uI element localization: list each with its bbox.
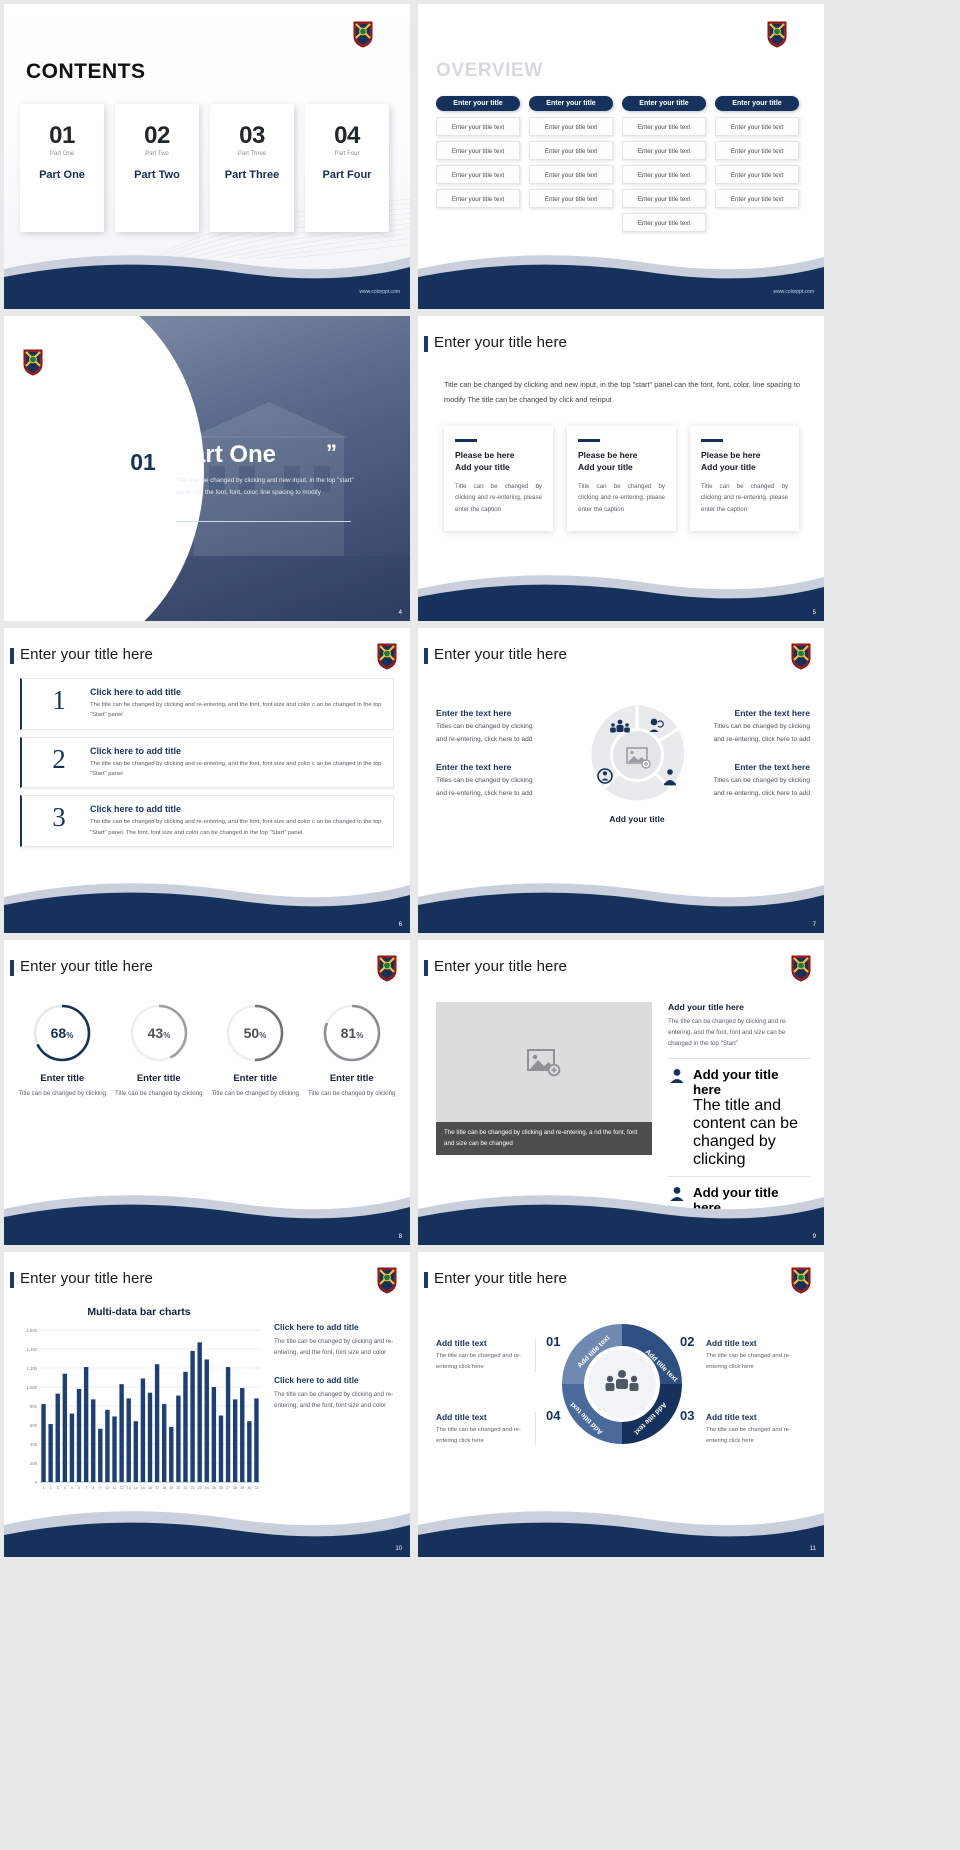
- page-title: CONTENTS: [26, 60, 146, 84]
- svg-text:12: 12: [120, 1486, 124, 1490]
- bar: [148, 1393, 152, 1482]
- svg-text:600: 600: [30, 1423, 38, 1428]
- slide-contents[interactable]: CONTENTS 01 Part One Part One 02 Part Tw…: [4, 4, 410, 309]
- ring-value: 68: [51, 1025, 67, 1041]
- svg-text:24: 24: [205, 1486, 209, 1490]
- ring-unit: %: [163, 1031, 170, 1040]
- overview-box[interactable]: Enter your title text: [622, 213, 706, 232]
- row-number: 2: [32, 746, 86, 773]
- card-label: Part Two: [115, 169, 199, 181]
- quadrant-number: 01: [546, 1334, 560, 1349]
- image-placeholder[interactable]: [436, 1002, 652, 1122]
- card-label: Part One: [20, 169, 104, 181]
- page-title: Enter your title here: [20, 646, 153, 663]
- block-body: Titles can be changed by clicking and re…: [436, 775, 540, 801]
- svg-text:20: 20: [176, 1486, 180, 1490]
- svg-text:11: 11: [113, 1486, 117, 1490]
- block-heading: Enter the text here: [706, 762, 810, 772]
- svg-text:81%: 81%: [340, 1025, 363, 1041]
- svg-text:1,400: 1,400: [27, 1347, 38, 1352]
- row-body: The title can be changed by clicking and…: [90, 817, 383, 838]
- quadrant-body: The title can be changed and re-entering…: [706, 1425, 806, 1446]
- slide-wheel-diagram[interactable]: Enter your title here Enter the text her…: [418, 628, 824, 933]
- quadrant-body: The title can be changed and re-entering…: [706, 1351, 806, 1372]
- quadrant-text: Add title text The title can be changed …: [436, 1338, 536, 1372]
- right-text-column: Click here to add title The title can be…: [274, 1322, 400, 1428]
- left-text-column: Enter the text here Titles can be change…: [436, 708, 540, 815]
- university-crest-icon: [376, 1266, 398, 1294]
- item-heading: Add your title here: [693, 1067, 810, 1097]
- slide-cycle-diagram[interactable]: Enter your title here: [418, 1252, 824, 1557]
- row-number: 3: [32, 804, 86, 831]
- percent-ring[interactable]: 50% Enter title Title can be changed by …: [207, 1002, 304, 1100]
- overview-box[interactable]: Enter your title text: [436, 165, 520, 184]
- svg-text:10: 10: [105, 1486, 109, 1490]
- overview-column: Enter your title Enter your title text E…: [622, 96, 706, 237]
- svg-text:27: 27: [226, 1486, 230, 1490]
- wave-footer: [4, 247, 410, 309]
- bar: [112, 1416, 116, 1482]
- page-number: 11: [810, 1546, 816, 1552]
- text-block: Enter the text here Titles can be change…: [436, 762, 540, 801]
- svg-text:43%: 43%: [147, 1025, 170, 1041]
- block-body: The title can be changed by clicking and…: [668, 1016, 810, 1049]
- ring-value: 81: [340, 1025, 356, 1041]
- donut-chart: 50%: [224, 1002, 286, 1064]
- card-subtitle: Part Two: [115, 151, 199, 157]
- svg-text:6: 6: [78, 1486, 80, 1490]
- svg-text:1,200: 1,200: [27, 1366, 38, 1371]
- card-number: 03: [210, 122, 294, 150]
- card-subtitle: Part Four: [305, 151, 389, 157]
- svg-text:8: 8: [92, 1486, 94, 1490]
- card-subtitle: Part One: [20, 151, 104, 157]
- ring-caption: Title can be changed by clicking: [14, 1089, 111, 1100]
- row-heading: Click here to add title: [90, 687, 383, 697]
- university-crest-icon: [790, 954, 812, 982]
- svg-text:7: 7: [85, 1486, 87, 1490]
- wave-footer: [418, 871, 824, 933]
- contents-card[interactable]: 02 Part Two Part Two: [115, 104, 199, 232]
- card-label: Part Three: [210, 169, 294, 181]
- block-body: Titles can be changed by clicking and re…: [436, 721, 540, 747]
- page-number: 6: [399, 922, 402, 928]
- block-body: Titles can be changed by clicking and re…: [706, 775, 810, 801]
- block-heading: Add your title here: [668, 1002, 810, 1012]
- quadrant-number: 04: [546, 1408, 560, 1423]
- overview-column: Enter your title Enter your title text E…: [436, 96, 520, 237]
- row-body: The title can be changed by clicking and…: [90, 759, 383, 780]
- svg-text:30: 30: [247, 1486, 251, 1490]
- info-card[interactable]: Please be here Add your title Title can …: [567, 426, 676, 531]
- svg-text:21: 21: [183, 1486, 187, 1490]
- percent-ring[interactable]: 68% Enter title Title can be changed by …: [14, 1002, 111, 1100]
- card-heading: Please be here Add your title: [578, 449, 665, 474]
- svg-text:23: 23: [198, 1486, 202, 1490]
- bar: [197, 1342, 201, 1482]
- quadrant-heading: Add title text: [436, 1412, 527, 1422]
- svg-text:19: 19: [169, 1486, 173, 1490]
- row-number: 1: [32, 687, 86, 714]
- svg-text:9: 9: [99, 1486, 101, 1490]
- svg-text:13: 13: [127, 1486, 131, 1490]
- quadrant-text: Add title text The title can be changed …: [436, 1412, 536, 1446]
- bar: [254, 1398, 258, 1482]
- bar-chart[interactable]: Multi-data bar charts 02004006008001,000…: [14, 1306, 264, 1521]
- ring-unit: %: [259, 1031, 266, 1040]
- footer-website: www.colorppt.com: [359, 289, 400, 295]
- svg-text:29: 29: [240, 1486, 244, 1490]
- page-title: Enter your title here: [434, 958, 567, 975]
- card-heading: Please be here Add your title: [701, 449, 788, 474]
- page-title: OVERVIEW: [436, 60, 543, 82]
- bar: [41, 1404, 45, 1482]
- page-title: Enter your title here: [434, 646, 567, 663]
- bar: [70, 1414, 74, 1482]
- bar: [212, 1387, 216, 1482]
- university-crest-icon: [22, 348, 44, 376]
- footer-website: www.colorppt.com: [773, 289, 814, 295]
- block-heading: Enter the text here: [706, 708, 810, 718]
- bar-chart-svg: 02004006008001,0001,2001,4001,6001234567…: [14, 1324, 264, 1504]
- overview-box[interactable]: Enter your title text: [715, 165, 799, 184]
- svg-text:5: 5: [71, 1486, 73, 1490]
- bar: [240, 1388, 244, 1482]
- column-header-pill[interactable]: Enter your title: [622, 96, 706, 111]
- segmented-wheel-diagram[interactable]: [582, 700, 692, 810]
- text-block: Click here to add title The title can be…: [274, 1322, 400, 1359]
- bar: [98, 1429, 102, 1482]
- svg-text:26: 26: [219, 1486, 223, 1490]
- svg-text:15: 15: [141, 1486, 145, 1490]
- slide-deck-grid: CONTENTS 01 Part One Part One 02 Part Tw…: [0, 0, 960, 1557]
- bar: [190, 1351, 194, 1482]
- svg-text:17: 17: [155, 1486, 159, 1490]
- wave-footer: [4, 1183, 410, 1245]
- card-heading: Please be here Add your title: [455, 449, 542, 474]
- column-header-pill[interactable]: Enter your title: [715, 96, 799, 111]
- university-crest-icon: [790, 642, 812, 670]
- numbered-row[interactable]: 3 Click here to add title The title can …: [20, 795, 394, 847]
- bar: [155, 1364, 159, 1482]
- overview-box[interactable]: Enter your title text: [622, 165, 706, 184]
- page-number: 7: [813, 922, 816, 928]
- page-number: 8: [399, 1234, 402, 1240]
- quadrant-heading: Add title text: [706, 1412, 806, 1422]
- section-heading: Part One: [176, 441, 276, 469]
- donut-chart: 43%: [128, 1002, 190, 1064]
- bar: [205, 1359, 209, 1482]
- numbered-row[interactable]: 2 Click here to add title The title can …: [20, 737, 394, 789]
- bar: [48, 1424, 52, 1482]
- overview-column: Enter your title Enter your title text E…: [529, 96, 613, 237]
- item-body: The title and content can be changed by …: [693, 1097, 810, 1169]
- block-body: The title can be changed by clicking and…: [274, 1336, 400, 1359]
- donut-chart: 68%: [31, 1002, 93, 1064]
- ring-label: Enter title: [207, 1073, 304, 1084]
- quadrant-number: 02: [680, 1334, 694, 1349]
- text-block: Enter the text here Titles can be change…: [706, 708, 810, 747]
- block-heading: Enter the text here: [436, 708, 540, 718]
- wave-footer: [4, 1495, 410, 1557]
- svg-text:28: 28: [233, 1486, 237, 1490]
- card-list: Please be here Add your title Title can …: [444, 426, 799, 531]
- svg-text:1: 1: [43, 1486, 45, 1490]
- svg-text:200: 200: [30, 1461, 38, 1466]
- page-title: Enter your title here: [434, 1270, 567, 1287]
- svg-text:4: 4: [64, 1486, 66, 1490]
- bar: [176, 1396, 180, 1482]
- svg-text:1,000: 1,000: [27, 1385, 38, 1390]
- ring-label: Enter title: [304, 1073, 401, 1084]
- row-body: The title can be changed by clicking and…: [90, 700, 383, 721]
- slide-section-divider[interactable]: 01 Part One ” Title can be changed by cl…: [4, 316, 410, 621]
- block-body: The title can be changed by clicking and…: [274, 1389, 400, 1412]
- page-title: Enter your title here: [434, 334, 567, 351]
- card-number: 02: [115, 122, 199, 150]
- image-placeholder-icon: [526, 1047, 562, 1077]
- slide-percent-rings[interactable]: Enter your title here 68% Enter title Ti…: [4, 940, 410, 1245]
- overview-box[interactable]: Enter your title text: [622, 189, 706, 208]
- university-crest-icon: [376, 642, 398, 670]
- quadrant-text: Add title text The title can be changed …: [706, 1338, 806, 1372]
- page-number: 9: [813, 1234, 816, 1240]
- wave-footer: [4, 871, 410, 933]
- card-body: Title can be changed by clicking and re-…: [578, 481, 665, 515]
- page-number: 4: [399, 610, 402, 616]
- wave-footer: [418, 1183, 824, 1245]
- quadrant-heading: Add title text: [706, 1338, 806, 1348]
- numbered-row-list: 1 Click here to add title The title can …: [20, 678, 394, 854]
- section-body: Title can be changed by clicking and new…: [176, 475, 356, 498]
- column-header-pill[interactable]: Enter your title: [436, 96, 520, 111]
- bar: [169, 1427, 173, 1482]
- ring-caption: Title can be changed by clicking: [207, 1089, 304, 1100]
- right-text-column: Enter the text here Titles can be change…: [706, 708, 810, 815]
- svg-text:14: 14: [134, 1486, 138, 1490]
- overview-box[interactable]: Enter your title text: [436, 189, 520, 208]
- person-icon: [668, 1067, 686, 1169]
- overview-box[interactable]: Enter your title text: [529, 141, 613, 160]
- bar: [91, 1399, 95, 1482]
- svg-text:2: 2: [50, 1486, 52, 1490]
- svg-text:0: 0: [35, 1480, 38, 1485]
- bar: [105, 1410, 109, 1482]
- bar: [247, 1421, 251, 1482]
- bar: [162, 1404, 166, 1482]
- ring-caption: Title can be changed by clicking: [304, 1089, 401, 1100]
- page-number: 5: [813, 610, 816, 616]
- university-crest-icon: [352, 20, 374, 48]
- card-body: Title can be changed by clicking and re-…: [701, 481, 788, 515]
- accent-dash: [701, 439, 723, 442]
- text-block: Click here to add title The title can be…: [274, 1375, 400, 1412]
- bar: [119, 1384, 123, 1482]
- slide-three-cards[interactable]: Enter your title here Title can be chang…: [418, 316, 824, 621]
- accent-dash: [578, 439, 600, 442]
- block-heading: Click here to add title: [274, 1375, 400, 1385]
- ring-unit: %: [66, 1031, 73, 1040]
- overview-column: Enter your title Enter your title text E…: [715, 96, 799, 237]
- university-crest-icon: [790, 1266, 812, 1294]
- svg-text:1,600: 1,600: [27, 1328, 38, 1333]
- overview-box[interactable]: Enter your title text: [436, 141, 520, 160]
- chart-title: Multi-data bar charts: [14, 1306, 264, 1318]
- ring-value: 43: [147, 1025, 163, 1041]
- card-body: Title can be changed by clicking and re-…: [455, 481, 542, 515]
- overview-box[interactable]: Enter your title text: [715, 189, 799, 208]
- bar: [56, 1394, 60, 1482]
- ring-caption: Title can be changed by clicking: [111, 1089, 208, 1100]
- contents-card[interactable]: 01 Part One Part One: [20, 104, 104, 232]
- block-heading: Enter the text here: [436, 762, 540, 772]
- donut-chart: 81%: [321, 1002, 383, 1064]
- card-number: 01: [20, 122, 104, 150]
- percent-ring[interactable]: 81% Enter title Title can be changed by …: [304, 1002, 401, 1100]
- overview-columns: Enter your title Enter your title text E…: [436, 96, 799, 237]
- block-heading: Click here to add title: [274, 1322, 400, 1332]
- overview-box[interactable]: Enter your title text: [715, 117, 799, 136]
- row-heading: Click here to add title: [90, 804, 383, 814]
- wave-footer: [418, 559, 824, 621]
- svg-text:25: 25: [212, 1486, 216, 1490]
- page-title: Enter your title here: [20, 958, 153, 975]
- bar: [127, 1398, 131, 1482]
- overview-box[interactable]: Enter your title text: [529, 189, 613, 208]
- slide-bar-chart[interactable]: Enter your title here Multi-data bar cha…: [4, 1252, 410, 1557]
- university-crest-icon: [376, 954, 398, 982]
- card-label: Part Four: [305, 169, 389, 181]
- bar: [63, 1374, 67, 1482]
- bar: [233, 1399, 237, 1482]
- overview-box[interactable]: Enter your title text: [622, 141, 706, 160]
- contents-card[interactable]: 03 Part Three Part Three: [210, 104, 294, 232]
- divider-rule: [176, 521, 351, 522]
- ring-label: Enter title: [14, 1073, 111, 1084]
- svg-text:16: 16: [148, 1486, 152, 1490]
- overview-box[interactable]: Enter your title text: [529, 165, 613, 184]
- bar: [134, 1421, 138, 1482]
- svg-text:22: 22: [191, 1486, 195, 1490]
- slide-numbered-list[interactable]: Enter your title here 1 Click here to ad…: [4, 628, 410, 933]
- info-card[interactable]: Please be here Add your title Title can …: [690, 426, 799, 531]
- page-number: 10: [395, 1546, 402, 1552]
- svg-text:31: 31: [254, 1486, 258, 1490]
- numbered-row[interactable]: 1 Click here to add title The title can …: [20, 678, 394, 730]
- lead-paragraph: Title can be changed by clicking and new…: [444, 378, 800, 407]
- bar: [219, 1416, 223, 1483]
- svg-text:18: 18: [162, 1486, 166, 1490]
- block-body: Titles can be changed by clicking and re…: [706, 721, 810, 747]
- cycle-diagram[interactable]: Add title text Add title text Add title …: [548, 1310, 696, 1475]
- list-item[interactable]: Add your title here The title and conten…: [668, 1058, 810, 1169]
- bar: [226, 1367, 230, 1482]
- info-card[interactable]: Please be here Add your title Title can …: [444, 426, 553, 531]
- overview-box[interactable]: Enter your title text: [622, 117, 706, 136]
- quadrant-body: The title can be changed and re-entering…: [436, 1351, 527, 1372]
- wave-footer: [418, 1495, 824, 1557]
- university-crest-icon: [766, 20, 788, 48]
- section-number: 01: [122, 442, 164, 482]
- wheel-center-caption: Add your title: [582, 814, 692, 824]
- row-heading: Click here to add title: [90, 746, 383, 756]
- text-block: Enter the text here Titles can be change…: [706, 762, 810, 801]
- bar: [141, 1378, 145, 1482]
- ring-value: 50: [244, 1025, 260, 1041]
- slide-overview[interactable]: OVERVIEW Enter your title Enter your tit…: [418, 4, 824, 309]
- ring-unit: %: [356, 1031, 363, 1040]
- quote-mark-icon: ”: [326, 440, 337, 466]
- contents-card[interactable]: 04 Part Four Part Four: [305, 104, 389, 232]
- image-caption: The title can be changed by clicking and…: [436, 1122, 652, 1155]
- ring-label: Enter title: [111, 1073, 208, 1084]
- svg-text:3: 3: [57, 1486, 59, 1490]
- page-title: Enter your title here: [20, 1270, 153, 1287]
- quadrant-number: 03: [680, 1408, 694, 1423]
- svg-text:68%: 68%: [51, 1025, 74, 1041]
- svg-text:400: 400: [30, 1442, 38, 1447]
- lead-block: Add your title here The title can be cha…: [668, 1002, 810, 1049]
- percent-ring[interactable]: 43% Enter title Title can be changed by …: [111, 1002, 208, 1100]
- quadrant-body: The title can be changed and re-entering…: [436, 1425, 527, 1446]
- quadrant-text: Add title text The title can be changed …: [706, 1412, 806, 1446]
- overview-box[interactable]: Enter your title text: [436, 117, 520, 136]
- svg-text:50%: 50%: [244, 1025, 267, 1041]
- bar: [84, 1367, 88, 1482]
- quadrant-heading: Add title text: [436, 1338, 527, 1348]
- card-number: 04: [305, 122, 389, 150]
- percent-ring-chart-group: 68% Enter title Title can be changed by …: [14, 1002, 400, 1100]
- wave-footer: [418, 247, 824, 309]
- overview-box[interactable]: Enter your title text: [529, 117, 613, 136]
- bar: [183, 1372, 187, 1482]
- text-block: Enter the text here Titles can be change…: [436, 708, 540, 747]
- svg-text:800: 800: [30, 1404, 38, 1409]
- accent-dash: [455, 439, 477, 442]
- overview-box[interactable]: Enter your title text: [715, 141, 799, 160]
- slide-image-and-list[interactable]: Enter your title here The title can be c…: [418, 940, 824, 1245]
- card-subtitle: Part Three: [210, 151, 294, 157]
- bar: [77, 1389, 81, 1482]
- column-header-pill[interactable]: Enter your title: [529, 96, 613, 111]
- contents-card-list: 01 Part One Part One 02 Part Two Part Tw…: [20, 104, 389, 232]
